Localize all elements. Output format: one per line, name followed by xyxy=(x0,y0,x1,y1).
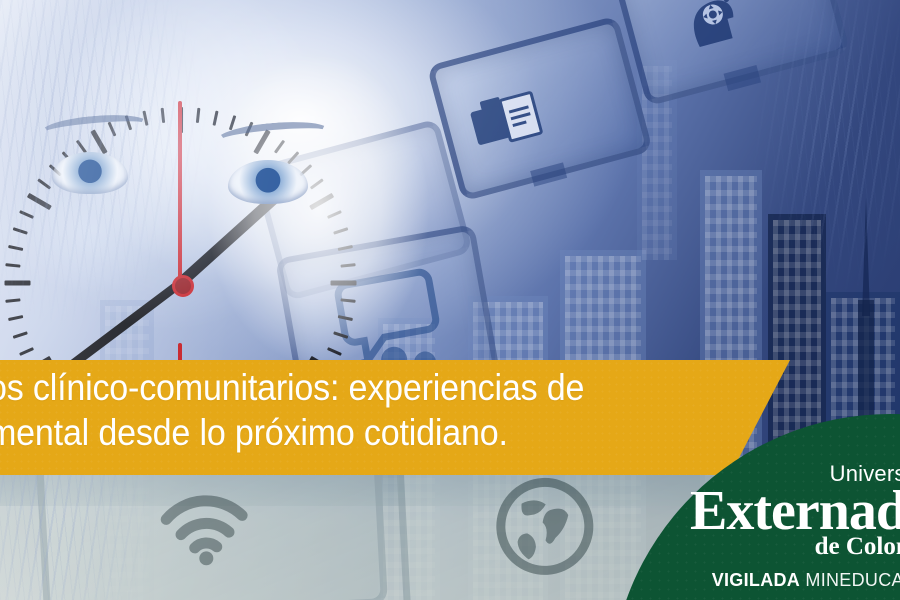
logo-externado: Externado xyxy=(690,484,900,538)
banner-title: os clínico-comunitarios: experiencias de… xyxy=(0,365,687,455)
mineducacion-label: MINEDUCACIÓN xyxy=(800,570,900,590)
university-logo: Universidad Externado de Colombia VIGILA… xyxy=(690,462,900,591)
vigilada-mineducacion: VIGILADA MINEDUCACIÓN xyxy=(690,569,900,591)
promo-banner: $ xyxy=(0,0,900,600)
vigilada-label: VIGILADA xyxy=(712,570,800,590)
